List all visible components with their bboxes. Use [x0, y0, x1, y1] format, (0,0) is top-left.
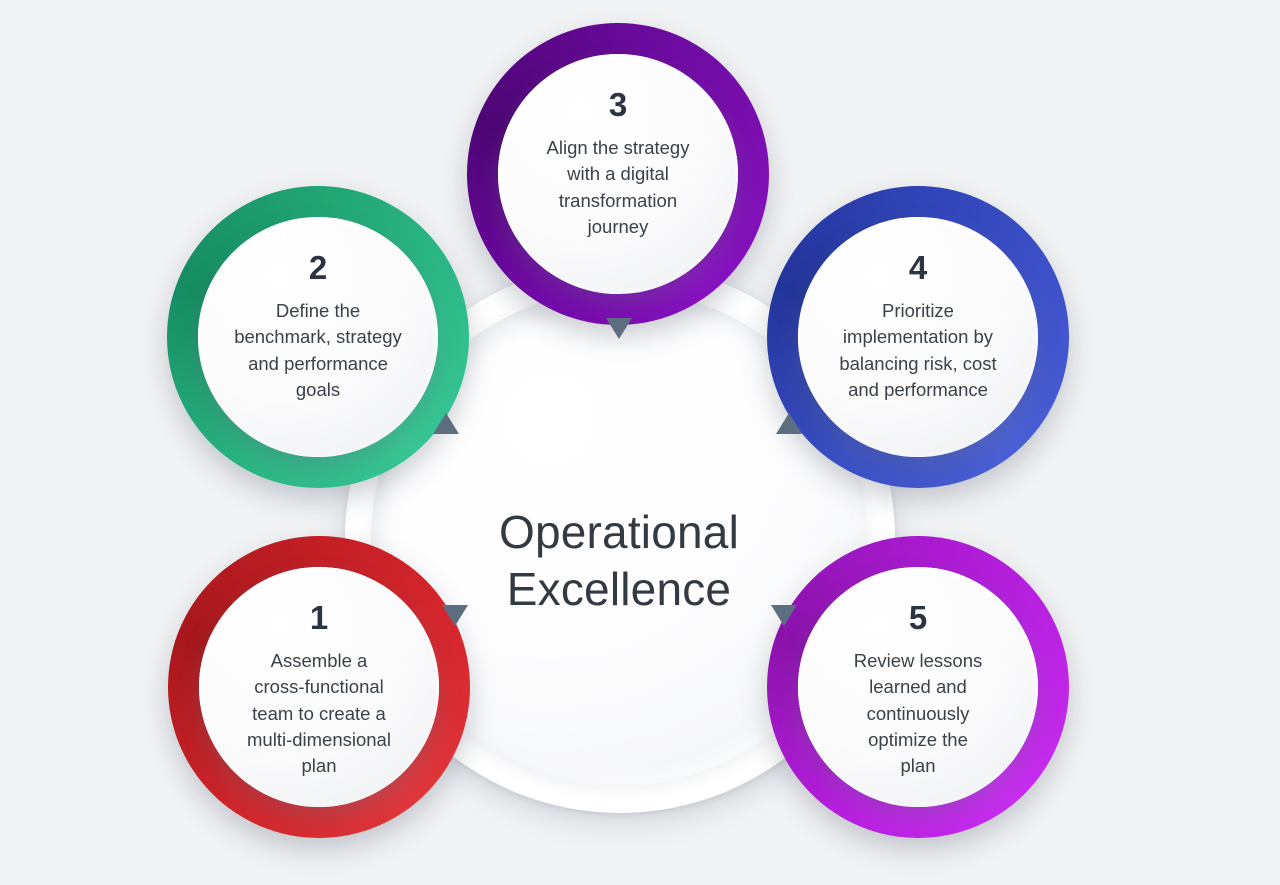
- step-1-face: 1 Assemble a cross-functional team to cr…: [199, 567, 439, 807]
- step-circle-2[interactable]: 2 Define the benchmark, strategy and per…: [167, 186, 469, 488]
- arrow-down-icon-top: [606, 318, 632, 339]
- step-5-description: Review lessons learned and continuously …: [820, 648, 1016, 779]
- step-2-face: 2 Define the benchmark, strategy and per…: [198, 217, 438, 457]
- step-2-number: 2: [309, 251, 327, 284]
- center-title: Operational Excellence: [499, 504, 739, 618]
- step-circle-1[interactable]: 1 Assemble a cross-functional team to cr…: [168, 536, 470, 838]
- step-4-description: Prioritize implementation by balancing r…: [820, 298, 1016, 403]
- step-circle-3[interactable]: 3 Align the strategy with a digital tran…: [467, 23, 769, 325]
- arrow-up-icon-left: [433, 413, 459, 434]
- step-3-face: 3 Align the strategy with a digital tran…: [498, 54, 738, 294]
- step-3-description: Align the strategy with a digital transf…: [520, 135, 716, 240]
- step-3-number: 3: [609, 88, 627, 121]
- step-circle-5[interactable]: 5 Review lessons learned and continuousl…: [767, 536, 1069, 838]
- step-2-description: Define the benchmark, strategy and perfo…: [220, 298, 416, 403]
- diagram-canvas: Operational Excellence 1 Assemble a cros…: [0, 0, 1280, 885]
- arrow-down-icon-bottom-right: [771, 605, 797, 626]
- step-1-number: 1: [310, 601, 328, 634]
- step-5-number: 5: [909, 601, 927, 634]
- step-4-number: 4: [909, 251, 927, 284]
- step-circle-4[interactable]: 4 Prioritize implementation by balancing…: [767, 186, 1069, 488]
- step-1-description: Assemble a cross-functional team to crea…: [221, 648, 417, 779]
- arrow-down-icon-bottom-left: [442, 605, 468, 626]
- arrow-up-icon-right: [776, 413, 802, 434]
- step-4-face: 4 Prioritize implementation by balancing…: [798, 217, 1038, 457]
- step-5-face: 5 Review lessons learned and continuousl…: [798, 567, 1038, 807]
